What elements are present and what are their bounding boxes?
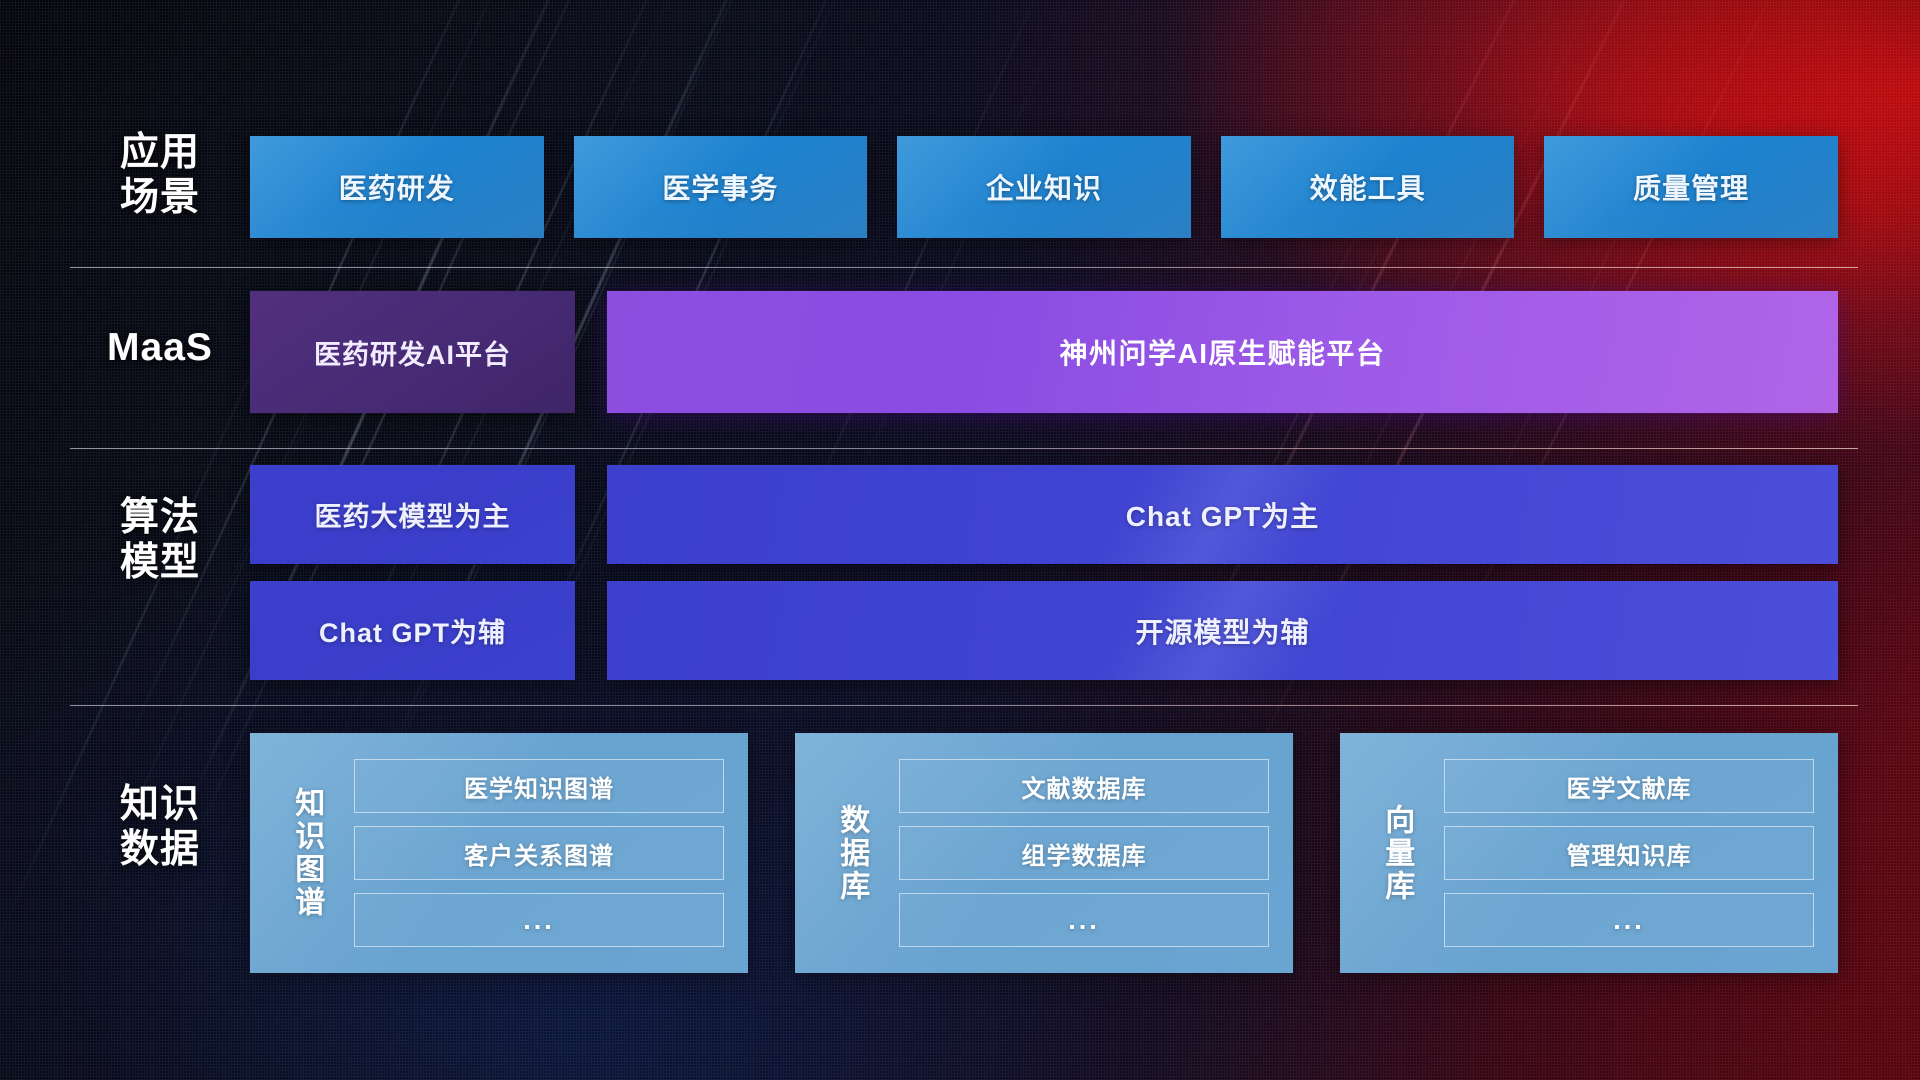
app-card-medicine-rnd[interactable]: 医药研发 [250, 136, 544, 238]
app-card-medical-affairs[interactable]: 医学事务 [574, 136, 868, 238]
tier-divider-1 [70, 267, 1858, 268]
maas-left-label: 医药研发AI平台 [314, 333, 511, 372]
row-label-application: 应用 场景 [80, 130, 240, 220]
algorithm-secondary-right[interactable]: 开源模型为辅 [607, 581, 1838, 680]
app-card-quality-management[interactable]: 质量管理 [1544, 136, 1838, 238]
knowledge-group-database: 数据库 文献数据库 组学数据库 ... [795, 733, 1293, 973]
knowledge-item-more[interactable]: ... [899, 893, 1269, 947]
knowledge-item[interactable]: 文献数据库 [899, 759, 1269, 813]
row-label-maas: MaaS [80, 325, 240, 370]
app-card-label: 企业知识 [986, 167, 1102, 207]
app-card-label: 医学事务 [662, 167, 778, 207]
algorithm-label: 开源模型为辅 [1135, 611, 1309, 651]
knowledge-item[interactable]: 客户关系图谱 [354, 826, 724, 880]
row-label-knowledge: 知识 数据 [80, 782, 240, 872]
app-card-label: 医药研发 [339, 167, 455, 207]
knowledge-group-label: 知识图谱 [278, 749, 334, 957]
knowledge-item[interactable]: 医学知识图谱 [354, 759, 724, 813]
knowledge-item-list: 医学文献库 管理知识库 ... [1444, 749, 1814, 957]
maas-platform-shenzhou[interactable]: 神州问学AI原生赋能平台 [607, 291, 1838, 413]
knowledge-group-label: 数据库 [823, 749, 879, 957]
algorithm-secondary-left[interactable]: Chat GPT为辅 [250, 581, 575, 680]
application-scenario-row: 医药研发 医学事务 企业知识 效能工具 质量管理 [250, 136, 1838, 238]
algorithm-primary-right[interactable]: Chat GPT为主 [607, 465, 1838, 564]
app-card-enterprise-knowledge[interactable]: 企业知识 [897, 136, 1191, 238]
knowledge-item[interactable]: 医学文献库 [1444, 759, 1814, 813]
maas-right-label: 神州问学AI原生赋能平台 [1059, 332, 1385, 372]
app-card-label: 质量管理 [1633, 167, 1749, 207]
knowledge-item-more[interactable]: ... [1444, 893, 1814, 947]
knowledge-data-row: 知识图谱 医学知识图谱 客户关系图谱 ... 数据库 文献数据库 组学数据库 .… [250, 733, 1838, 973]
algorithm-model-row: 医药大模型为主 Chat GPT为主 Chat GPT为辅 开源模型为辅 [250, 465, 1838, 680]
row-label-algorithm: 算法 模型 [80, 495, 240, 585]
algorithm-label: Chat GPT为主 [1126, 495, 1320, 535]
app-card-label: 效能工具 [1310, 167, 1426, 207]
knowledge-group-vector-store: 向量库 医学文献库 管理知识库 ... [1340, 733, 1838, 973]
algorithm-row-primary: 医药大模型为主 Chat GPT为主 [250, 465, 1838, 564]
app-card-efficiency-tools[interactable]: 效能工具 [1221, 136, 1515, 238]
knowledge-item[interactable]: 管理知识库 [1444, 826, 1814, 880]
tier-divider-2 [70, 448, 1858, 449]
algorithm-label: 医药大模型为主 [315, 495, 511, 534]
algorithm-row-secondary: Chat GPT为辅 开源模型为辅 [250, 581, 1838, 680]
maas-row: 医药研发AI平台 神州问学AI原生赋能平台 [250, 291, 1838, 413]
knowledge-group-knowledge-graph: 知识图谱 医学知识图谱 客户关系图谱 ... [250, 733, 748, 973]
knowledge-item-list: 文献数据库 组学数据库 ... [899, 749, 1269, 957]
architecture-diagram: 应用 场景 MaaS 算法 模型 知识 数据 医药研发 医学事务 企业知识 效能… [0, 0, 1920, 1080]
knowledge-item[interactable]: 组学数据库 [899, 826, 1269, 880]
knowledge-item-list: 医学知识图谱 客户关系图谱 ... [354, 749, 724, 957]
maas-platform-medicine-rnd[interactable]: 医药研发AI平台 [250, 291, 575, 413]
algorithm-primary-left[interactable]: 医药大模型为主 [250, 465, 575, 564]
knowledge-item-more[interactable]: ... [354, 893, 724, 947]
algorithm-label: Chat GPT为辅 [319, 611, 506, 650]
tier-divider-3 [70, 705, 1858, 706]
knowledge-group-label: 向量库 [1368, 749, 1424, 957]
